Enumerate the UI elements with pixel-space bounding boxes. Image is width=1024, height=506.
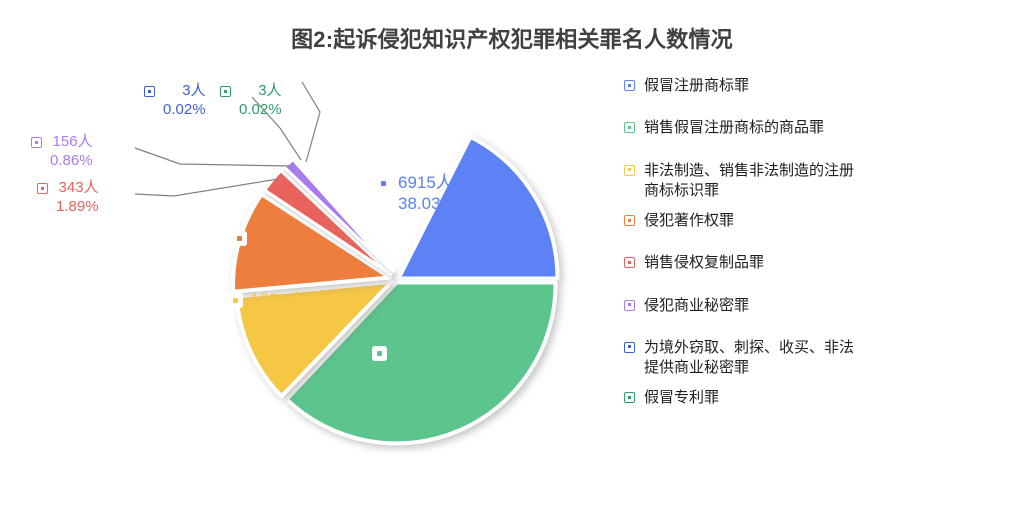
legend-item-label: 为境外窃取、刺探、收买、非法 提供商业秘密罪 [644, 338, 854, 379]
legend-marker-icon [624, 215, 635, 226]
legend-marker-icon [624, 122, 635, 133]
legend-item-label: 侵犯著作权罪 [644, 211, 734, 231]
pie-svg [130, 60, 630, 500]
callout-percent: 0.02% [239, 101, 282, 120]
legend-marker-icon [624, 257, 635, 268]
pie-plot-area: 6915人 38.03% 7761人 42.69% 1291人 7.10% 17… [130, 60, 630, 500]
legend-item-label: 销售侵权复制品罪 [644, 253, 764, 273]
legend-item-label: 假冒注册商标罪 [644, 76, 749, 96]
leader-line-假冒专利罪 [302, 82, 320, 162]
legend-item-非法制造销售非法制造的注册商标标识罪[interactable]: 非法制造、销售非法制造的注册 商标标识罪 [624, 161, 1004, 202]
pie-chart: 图2:起诉侵犯知识产权犯罪相关罪名人数情况 [0, 0, 1024, 506]
legend-marker-icon [624, 165, 635, 176]
legend-item-label: 销售假冒注册商标的商品罪 [644, 118, 824, 138]
callout-marker-icon [220, 86, 231, 97]
callout-label-侵犯商业秘密罪: 156人 0.86% [31, 133, 93, 171]
legend: 假冒注册商标罪 销售假冒注册商标的商品罪 非法制造、销售非法制造的注册 商标标识… [624, 76, 1004, 431]
legend-item-销售假冒注册商标的商品罪[interactable]: 销售假冒注册商标的商品罪 [624, 118, 1004, 138]
legend-item-假冒专利罪[interactable]: 假冒专利罪 [624, 388, 1004, 408]
callout-value: 343人 [59, 179, 99, 198]
callout-value: 3人 [258, 82, 281, 101]
chart-title: 图2:起诉侵犯知识产权犯罪相关罪名人数情况 [0, 22, 1024, 54]
legend-item-侵犯商业秘密罪[interactable]: 侵犯商业秘密罪 [624, 296, 1004, 316]
leader-line-侵犯商业秘密罪 [135, 148, 290, 166]
legend-item-侵犯著作权罪[interactable]: 侵犯著作权罪 [624, 211, 1004, 231]
legend-marker-icon [624, 80, 635, 91]
legend-item-假冒注册商标罪[interactable]: 假冒注册商标罪 [624, 76, 1004, 96]
callout-label-销售侵权复制品罪: 343人 1.89% [37, 179, 99, 217]
legend-item-label: 假冒专利罪 [644, 388, 719, 408]
callout-percent: 0.02% [163, 101, 206, 120]
legend-marker-icon [624, 342, 635, 353]
callout-value: 156人 [53, 133, 93, 152]
callout-marker-icon [31, 137, 42, 148]
legend-item-销售侵权复制品罪[interactable]: 销售侵权复制品罪 [624, 253, 1004, 273]
callout-percent: 0.86% [50, 152, 93, 171]
callout-value: 3人 [182, 82, 205, 101]
legend-marker-icon [624, 392, 635, 403]
callout-label-假冒专利罪: 3人 0.02% [220, 82, 282, 120]
legend-item-label: 侵犯商业秘密罪 [644, 296, 749, 316]
callout-marker-icon [144, 86, 155, 97]
legend-item-label: 非法制造、销售非法制造的注册 商标标识罪 [644, 161, 854, 202]
callout-marker-icon [37, 183, 48, 194]
pie-slice-假冒注册商标罪[interactable] [399, 137, 558, 279]
callout-percent: 1.89% [56, 198, 99, 217]
leader-line-销售侵权复制品罪 [135, 179, 278, 196]
legend-item-为境外窃取刺探收买非法提供商业秘密罪[interactable]: 为境外窃取、刺探、收买、非法 提供商业秘密罪 [624, 338, 1004, 379]
callout-label-为境外窃取刺探收买非法提供商业秘密罪: 3人 0.02% [144, 82, 206, 120]
legend-marker-icon [624, 300, 635, 311]
